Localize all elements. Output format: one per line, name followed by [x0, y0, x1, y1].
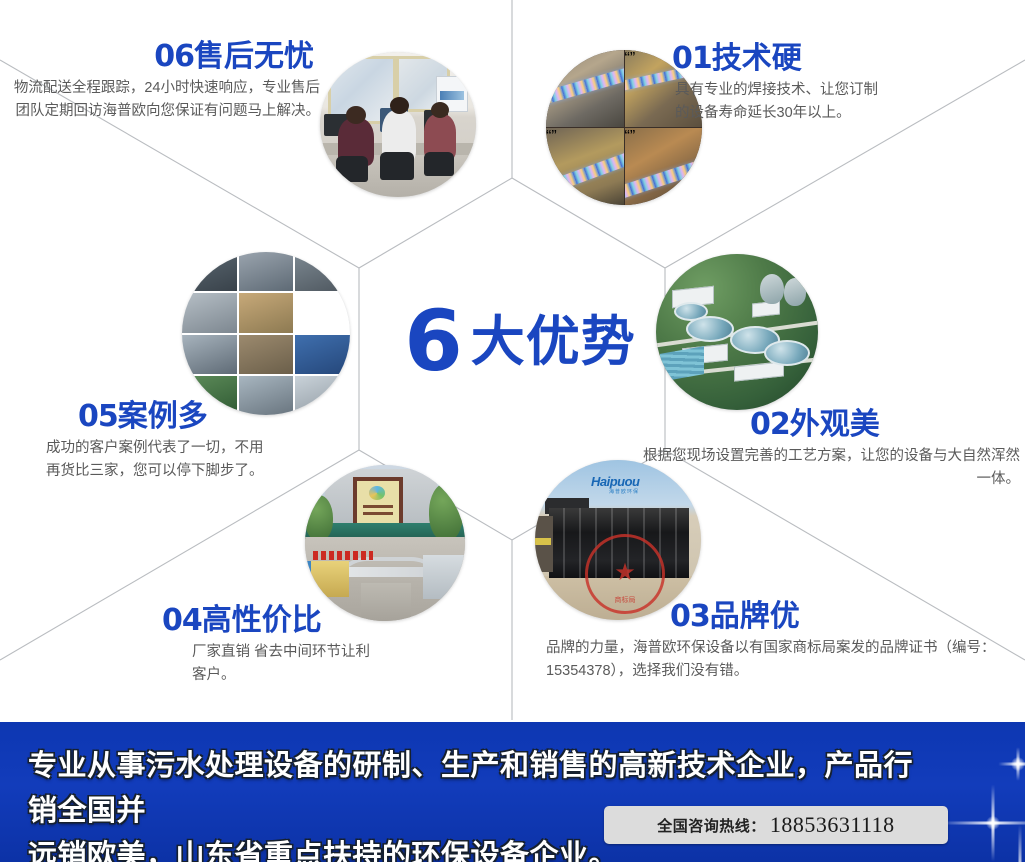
advantage-heading-06: 06售后无忧: [8, 40, 320, 73]
advantage-number-06: 06: [154, 39, 194, 74]
banner-text: 专业从事污水处理设备的研制、生产和销售的高新技术企业，产品行销全国并 远销欧美，…: [28, 744, 928, 862]
center-title: 6 大优势: [385, 292, 655, 392]
advantage-block-02: 02外观美 根据您现场设置完善的工艺方案，让您的设备与大自然浑然一体。: [630, 408, 1020, 492]
sparkle-icon-3: [990, 740, 1025, 788]
hotline-number: 18853631118: [770, 812, 895, 838]
advantage-heading-01: 01技术硬: [672, 42, 1002, 75]
advantage-block-05: 05案例多 成功的客户案例代表了一切，不用再货比三家，您可以停下脚步了。: [20, 400, 320, 484]
advantage-heading-04: 04高性价比: [130, 604, 470, 637]
advantage-heading-02: 02外观美: [630, 408, 1020, 441]
advantage-title-04: 高性价比: [202, 604, 322, 637]
advantage-body-04: 厂家直销 省去中间环节让利客户。: [130, 641, 372, 688]
advantage-block-04: 04高性价比 厂家直销 省去中间环节让利客户。: [130, 604, 470, 688]
factory-gate-photo: [305, 465, 465, 621]
center-number: 6: [404, 304, 460, 380]
infographic-root: 6 大优势: [0, 0, 1025, 862]
advantage-heading-05: 05案例多: [20, 400, 320, 433]
case-collage-photo: [182, 252, 350, 415]
advantage-body-05: 成功的客户案例代表了一切，不用再货比三家，您可以停下脚步了。: [20, 437, 276, 484]
advantage-title-03: 品牌优: [710, 600, 800, 633]
hotline-label: 全国咨询热线：: [657, 815, 766, 836]
advantage-block-06: 06售后无忧 物流配送全程跟踪，24小时快速响应，专业售后团队定期回访海普欧向您…: [8, 40, 320, 124]
office-staff-photo: [320, 52, 476, 197]
advantage-title-05: 案例多: [118, 400, 208, 433]
advantage-heading-03: 03品牌优: [520, 600, 1020, 633]
aerial-treatment-plant-photo: [656, 254, 818, 410]
advantage-number-02: 02: [750, 407, 790, 442]
advantage-body-03: 品牌的力量，海普欧环保设备以有国家商标局案发的品牌证书（编号：15354378）…: [520, 637, 1022, 684]
hotline-box[interactable]: 全国咨询热线： 18853631118: [604, 806, 948, 844]
advantage-body-06: 物流配送全程跟踪，24小时快速响应，专业售后团队定期回访海普欧向您保证有问题马上…: [8, 77, 320, 124]
advantage-title-01: 技术硬: [712, 42, 802, 75]
advantage-number-01: 01: [672, 41, 712, 76]
advantage-block-01: 01技术硬 具有专业的焊接技术、让您订制的设备寿命延长30年以上。: [672, 42, 1002, 126]
advantage-number-04: 04: [162, 603, 202, 638]
advantage-title-06: 售后无忧: [194, 40, 314, 73]
advantage-number-03: 03: [670, 599, 710, 634]
advantage-number-05: 05: [78, 399, 118, 434]
advantage-title-02: 外观美: [790, 408, 880, 441]
center-suffix: 大优势: [471, 315, 636, 369]
advantage-block-03: 03品牌优 品牌的力量，海普欧环保设备以有国家商标局案发的品牌证书（编号：153…: [520, 600, 1020, 684]
sparkle-icon-2: [965, 802, 1025, 862]
advantage-body-01: 具有专业的焊接技术、让您订制的设备寿命延长30年以上。: [672, 79, 890, 126]
advantage-body-02: 根据您现场设置完善的工艺方案，让您的设备与大自然浑然一体。: [630, 445, 1020, 492]
